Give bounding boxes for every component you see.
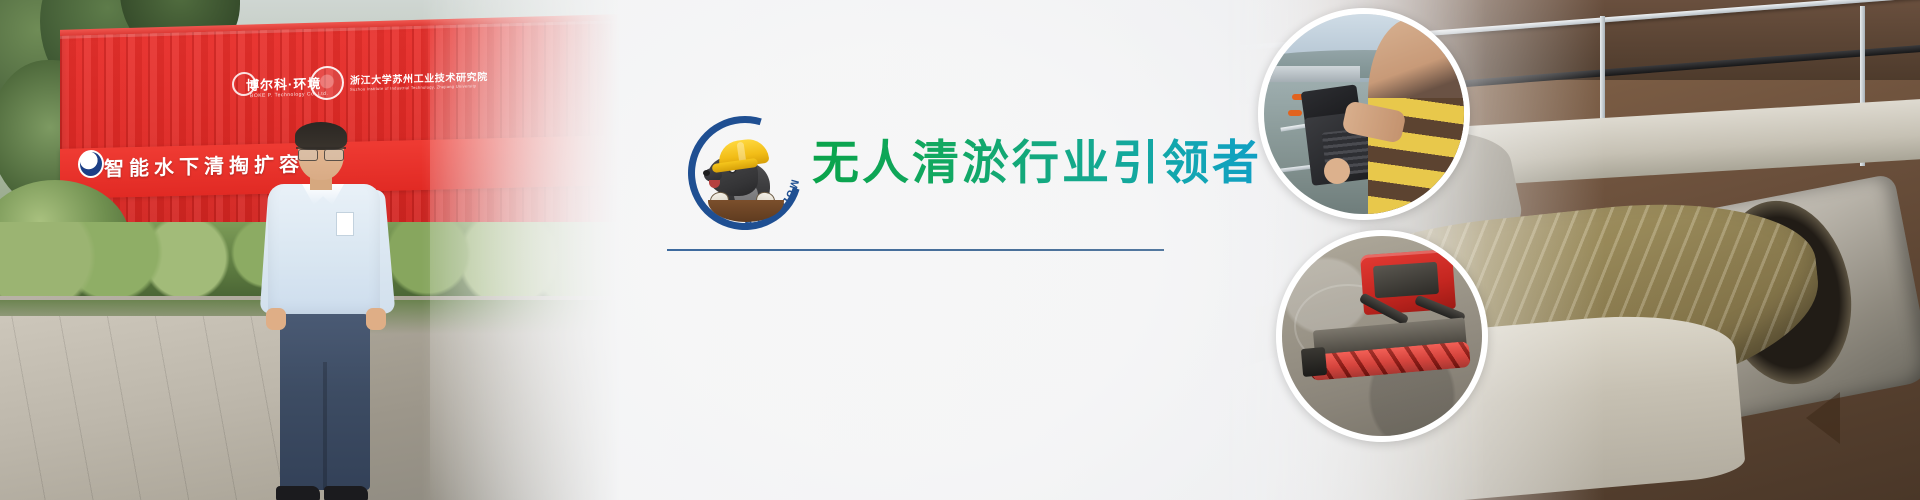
mole-mascot-icon [706,134,776,210]
shoe-right [324,486,368,500]
mole-nose [703,170,710,176]
hand-right [366,308,386,330]
center-content: MUD MOLE 无人清淤行业引领者 [660,96,1180,276]
headline-text: 无人清淤行业引领者 [812,124,1262,193]
robot-equipment-bay [1373,262,1439,298]
hand-left [266,308,286,330]
shoe-left [276,486,320,500]
circle-photo-operator [1258,8,1470,220]
hero-banner: 博尔科·环境 BOKE P. Technology Co.,Ltd. 浙江大学苏… [0,0,1920,500]
glasses-icon [296,147,346,159]
circle-photo-dredging-robot [1276,230,1488,442]
left-photo: 博尔科·环境 BOKE P. Technology Co.,Ltd. 浙江大学苏… [0,0,620,500]
operator-hand [1324,158,1350,184]
brand-logo: MUD MOLE [682,110,800,228]
hair [295,122,347,150]
shirt-pocket [336,212,354,236]
float-buoy [1288,110,1302,116]
trousers [280,314,370,490]
person-figure [262,126,392,500]
auger-end-cap [1301,347,1327,377]
shirt [268,184,380,320]
headline-divider [667,249,1164,251]
